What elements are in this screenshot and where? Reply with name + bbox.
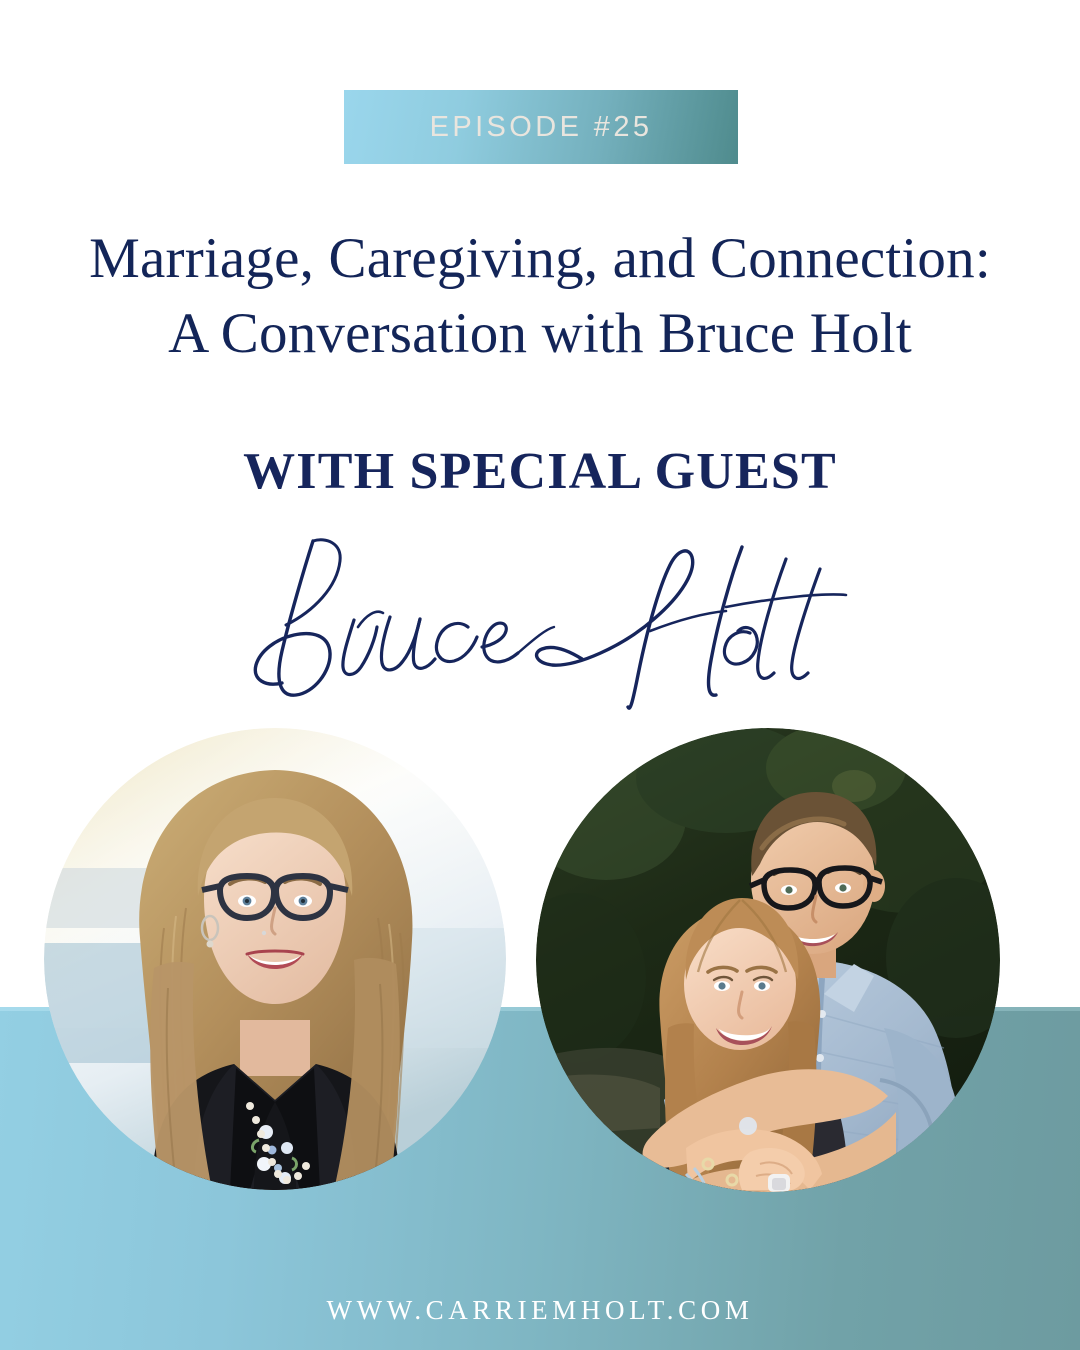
website-url: WWW.CARRIEMHOLT.COM — [0, 1295, 1080, 1326]
host-headshot-photo — [44, 728, 506, 1190]
signature-script-icon — [230, 535, 850, 710]
guest-couple-illustration — [536, 728, 1000, 1192]
guest-kicker-label: WITH SPECIAL GUEST — [0, 442, 1080, 501]
episode-title: Marriage, Caregiving, and Connection: A … — [0, 222, 1080, 371]
host-headshot-illustration — [44, 728, 506, 1190]
episode-title-line-1: Marriage, Caregiving, and Connection: — [0, 222, 1080, 297]
podcast-episode-graphic: EPISODE #25 Marriage, Caregiving, and Co… — [0, 0, 1080, 1350]
episode-title-line-2: A Conversation with Bruce Holt — [0, 297, 1080, 372]
guest-couple-photo — [536, 728, 1000, 1192]
guest-signature — [0, 532, 1080, 712]
episode-banner: EPISODE #25 — [344, 90, 738, 164]
episode-number-label: EPISODE #25 — [430, 111, 653, 144]
